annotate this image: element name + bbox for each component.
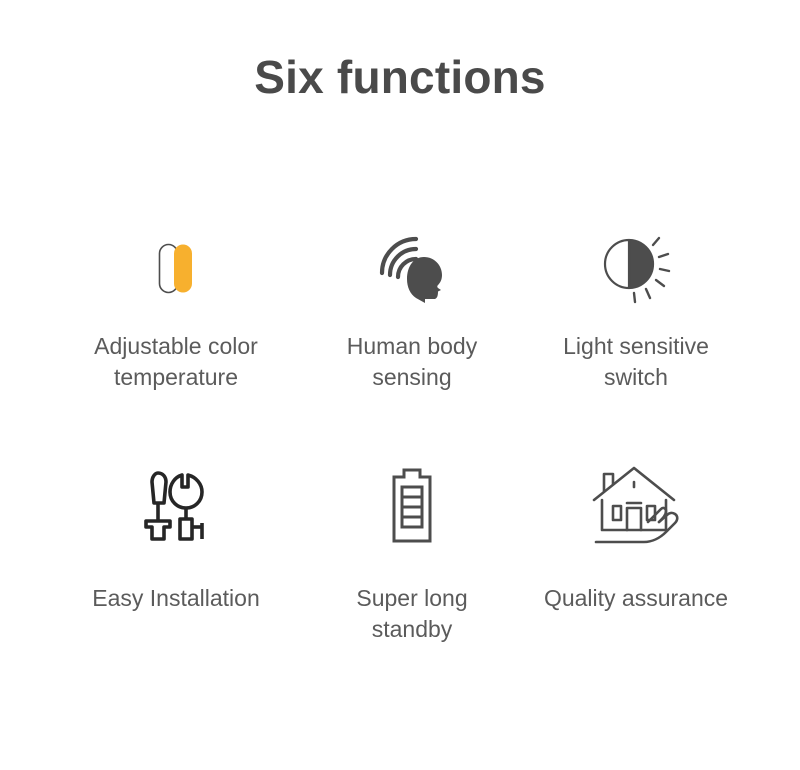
feature-label-line2: sensing (372, 364, 451, 390)
feature-row: Easy Installation (40, 445, 760, 675)
feature-item-color-temperature: Adjustable color temperature (40, 215, 312, 393)
feature-label: Quality assurance (544, 583, 728, 614)
color-temperature-capsules-icon (145, 215, 207, 323)
feature-showcase-page: Six functions Adjustable color temperatu… (0, 0, 800, 770)
feature-label-line2: switch (604, 364, 668, 390)
feature-item-super-long-standby: Super long standby (312, 445, 512, 645)
human-body-sensing-icon (372, 215, 452, 323)
house-on-hand-icon (586, 445, 686, 565)
feature-label: Adjustable color temperature (94, 331, 258, 393)
feature-label-line1: Easy Installation (92, 585, 259, 611)
feature-label-line2: standby (372, 616, 453, 642)
feature-label-line1: Super long (356, 585, 467, 611)
light-sensitive-brightness-icon (596, 215, 676, 323)
tools-screwdriver-wrench-icon (136, 445, 216, 565)
feature-label-line1: Human body (347, 333, 477, 359)
feature-label: Easy Installation (92, 583, 259, 614)
battery-icon (380, 445, 444, 565)
feature-row: Adjustable color temperature (40, 215, 760, 445)
feature-item-easy-installation: Easy Installation (40, 445, 312, 614)
feature-label: Human body sensing (347, 331, 477, 393)
feature-item-quality-assurance: Quality assurance (512, 445, 760, 614)
feature-label: Super long standby (356, 583, 467, 645)
feature-item-human-body-sensing: Human body sensing (312, 215, 512, 393)
feature-label-line1: Adjustable color (94, 333, 258, 359)
feature-label-line1: Light sensitive (563, 333, 709, 359)
feature-label-line1: Quality assurance (544, 585, 728, 611)
feature-item-light-sensitive-switch: Light sensitive switch (512, 215, 760, 393)
page-title: Six functions (0, 52, 800, 103)
feature-grid: Adjustable color temperature (40, 215, 760, 675)
feature-label: Light sensitive switch (563, 331, 709, 393)
feature-label-line2: temperature (114, 364, 238, 390)
